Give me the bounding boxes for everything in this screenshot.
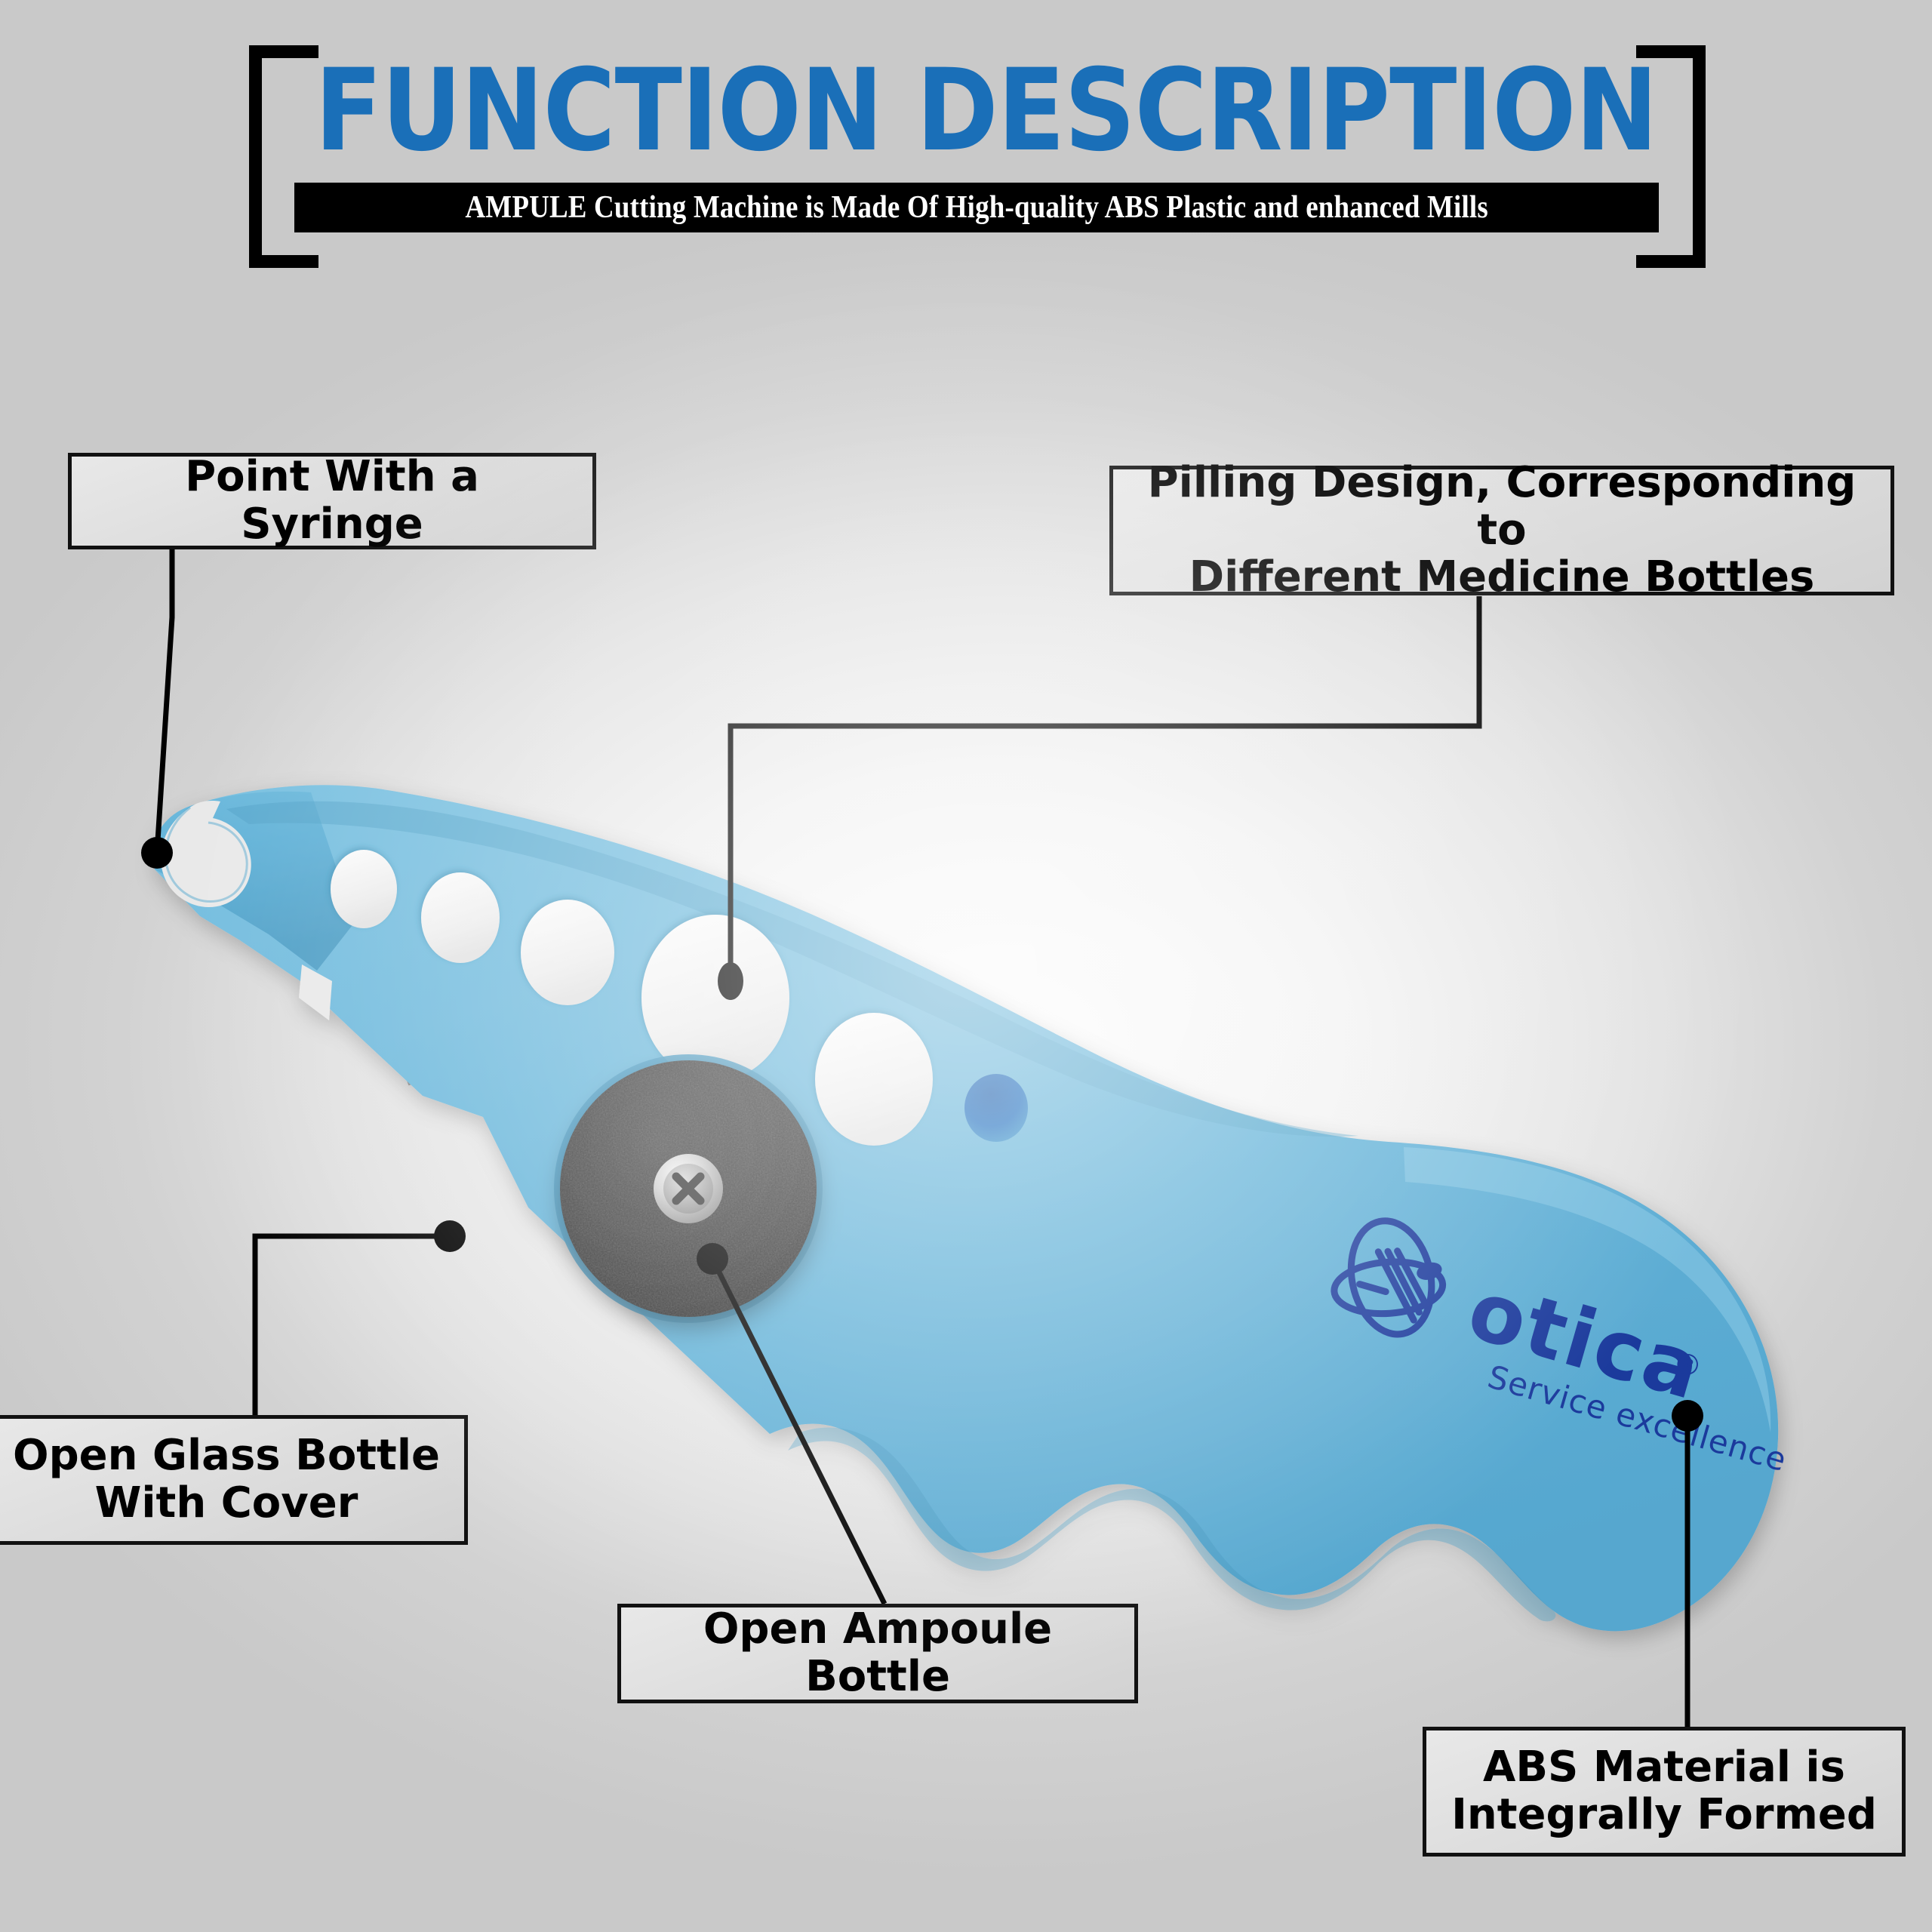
callout-point-with-syringe: Point With a Syringe [68, 453, 596, 549]
callout-line: With Cover [13, 1480, 440, 1527]
callout-line: Point With a Syringe [88, 454, 576, 548]
callout-open-glass-bottle: Open Glass Bottle With Cover [0, 1415, 468, 1545]
cap-hole-2 [421, 872, 500, 963]
callout-abs-material: ABS Material is Integrally Formed [1423, 1727, 1906, 1857]
cap-hole-5 [815, 1013, 933, 1146]
cap-hole-3 [521, 900, 614, 1005]
callout-line: Open Glass Bottle [13, 1432, 440, 1480]
callout-line: Different Medicine Bottles [1130, 554, 1874, 601]
cap-hole-4 [641, 915, 789, 1081]
callout-line: Integrally Formed [1451, 1792, 1877, 1839]
callout-pilling-design: Pilling Design, Corresponding to Differe… [1109, 466, 1894, 595]
callout-open-ampoule-bottle: Open Ampoule Bottle [617, 1604, 1138, 1703]
cap-hole-1 [331, 850, 397, 928]
callout-line: Pilling Design, Corresponding to [1130, 460, 1874, 554]
cutting-wheel [554, 1054, 823, 1323]
callout-line: Open Ampoule Bottle [638, 1606, 1118, 1700]
blind-dimple [964, 1074, 1028, 1142]
callout-line: ABS Material is [1451, 1744, 1877, 1792]
infographic-canvas: FUNCTION DESCRIPTION AMPULE Cutting Mach… [0, 0, 1932, 1932]
